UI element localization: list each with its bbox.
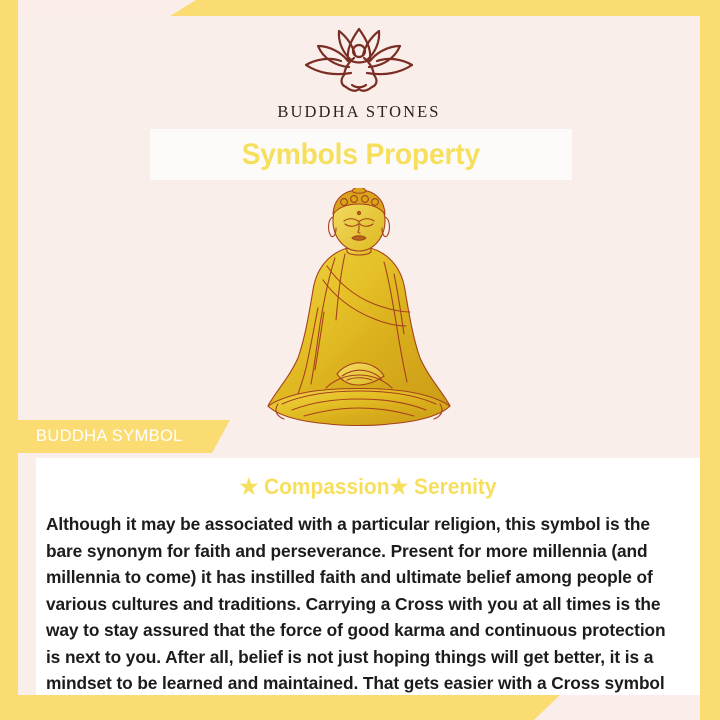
poster-root: BUDDHA STONES Symbols Property <box>0 0 720 720</box>
content-card: ★ Compassion★ Serenity Although it may b… <box>36 458 700 695</box>
decorative-band-left <box>0 0 18 695</box>
page-title: Symbols Property <box>242 138 480 172</box>
poster-stage: BUDDHA STONES Symbols Property <box>18 16 700 695</box>
brand-name: BUDDHA STONES <box>18 102 700 122</box>
content-paragraph: Although it may be associated with a par… <box>44 511 682 695</box>
brand-logo: BUDDHA STONES <box>18 24 700 122</box>
decorative-band-top <box>170 0 720 16</box>
category-tag-label: BUDDHA SYMBOL <box>18 427 183 446</box>
lotus-meditation-icon <box>294 24 424 98</box>
hero-image <box>18 184 700 446</box>
page-title-bar: Symbols Property <box>150 129 572 180</box>
content-subheading: ★ Compassion★ Serenity <box>60 474 676 500</box>
decorative-band-right <box>700 16 720 720</box>
category-tag: BUDDHA SYMBOL <box>18 420 230 453</box>
seated-golden-buddha-illustration <box>234 188 484 446</box>
decorative-band-bottom <box>0 695 560 720</box>
